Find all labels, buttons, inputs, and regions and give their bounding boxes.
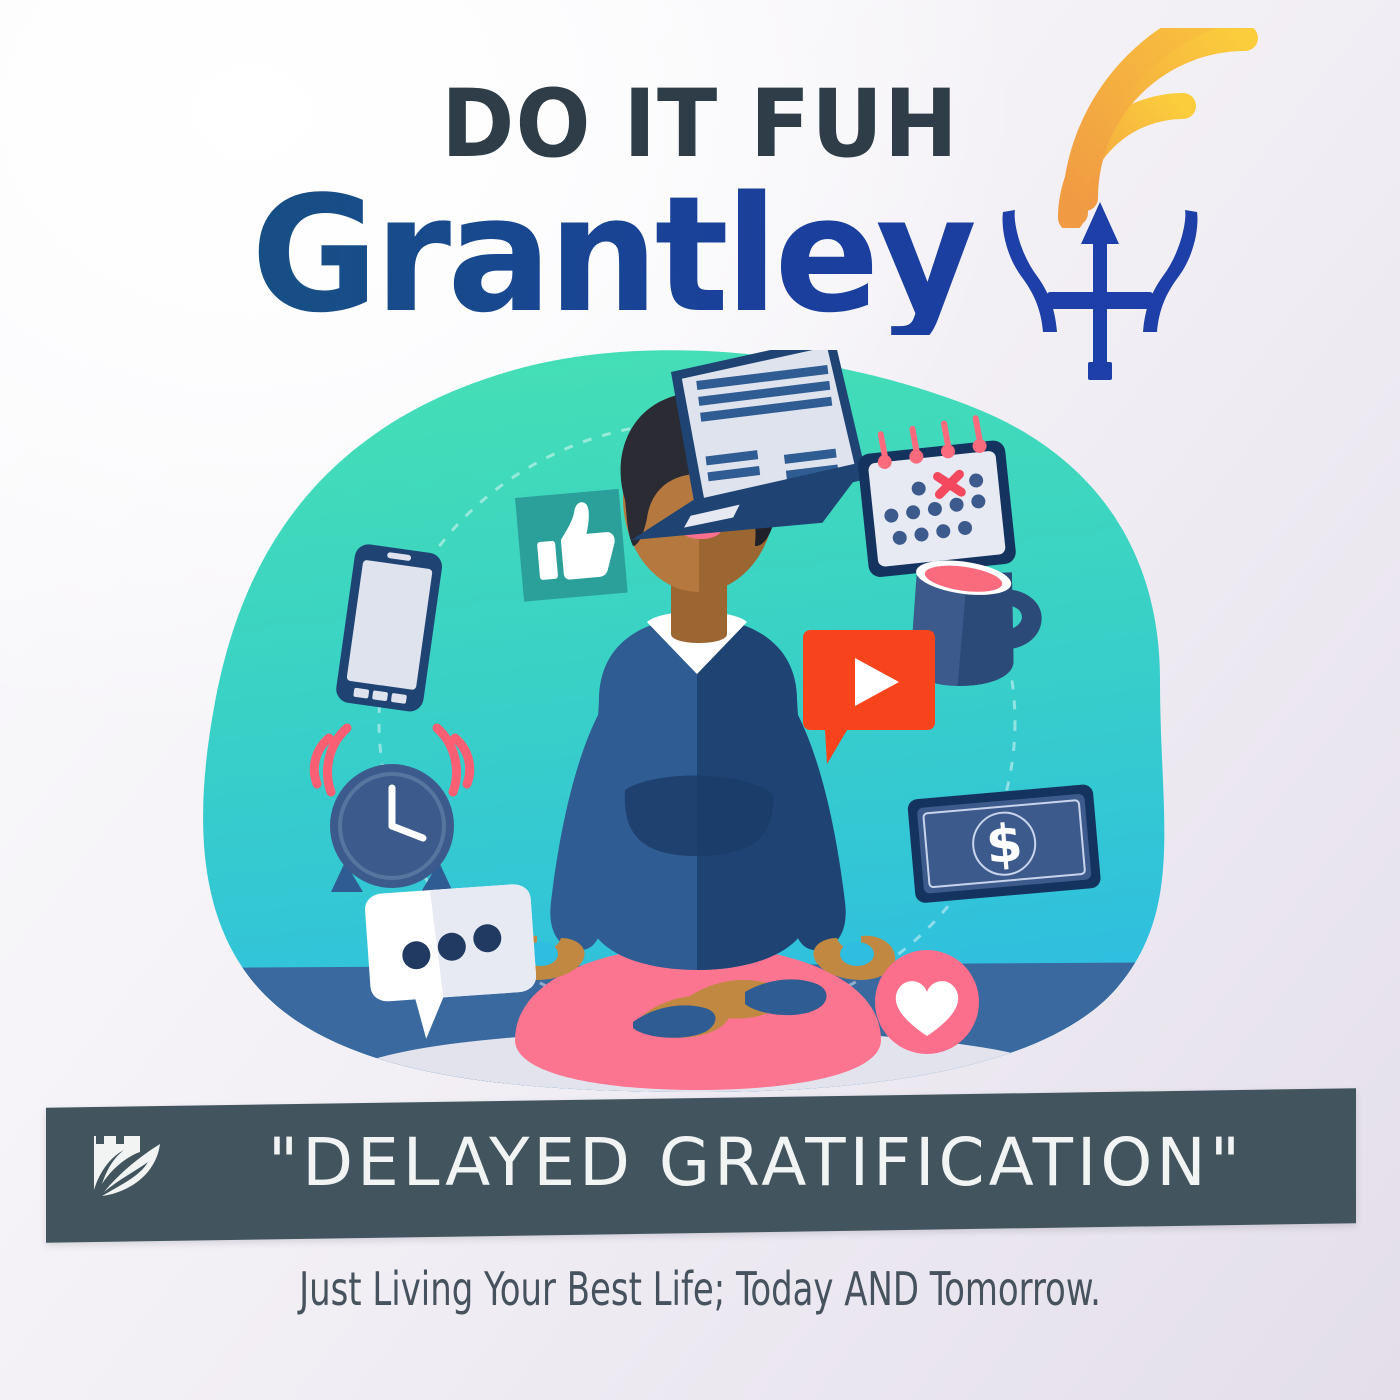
cover-art-canvas: DO IT FUH Grantley bbox=[0, 0, 1400, 1400]
episode-banner: "DELAYED GRATIFICATION" bbox=[46, 1088, 1356, 1242]
svg-text:$: $ bbox=[984, 813, 1025, 876]
thumbs-up-icon bbox=[515, 489, 628, 602]
brand-header: DO IT FUH Grantley bbox=[0, 0, 1400, 380]
castle-leaf-logo-icon bbox=[84, 1122, 176, 1212]
heart-icon bbox=[875, 950, 979, 1054]
episode-title: "DELAYED GRATIFICATION" bbox=[196, 1095, 1316, 1230]
money-bill-icon: $ bbox=[907, 784, 1101, 904]
tagline: Just Living Your Best Life; Today AND To… bbox=[126, 1262, 1274, 1316]
hero-illustration: $ bbox=[185, 350, 1215, 1110]
